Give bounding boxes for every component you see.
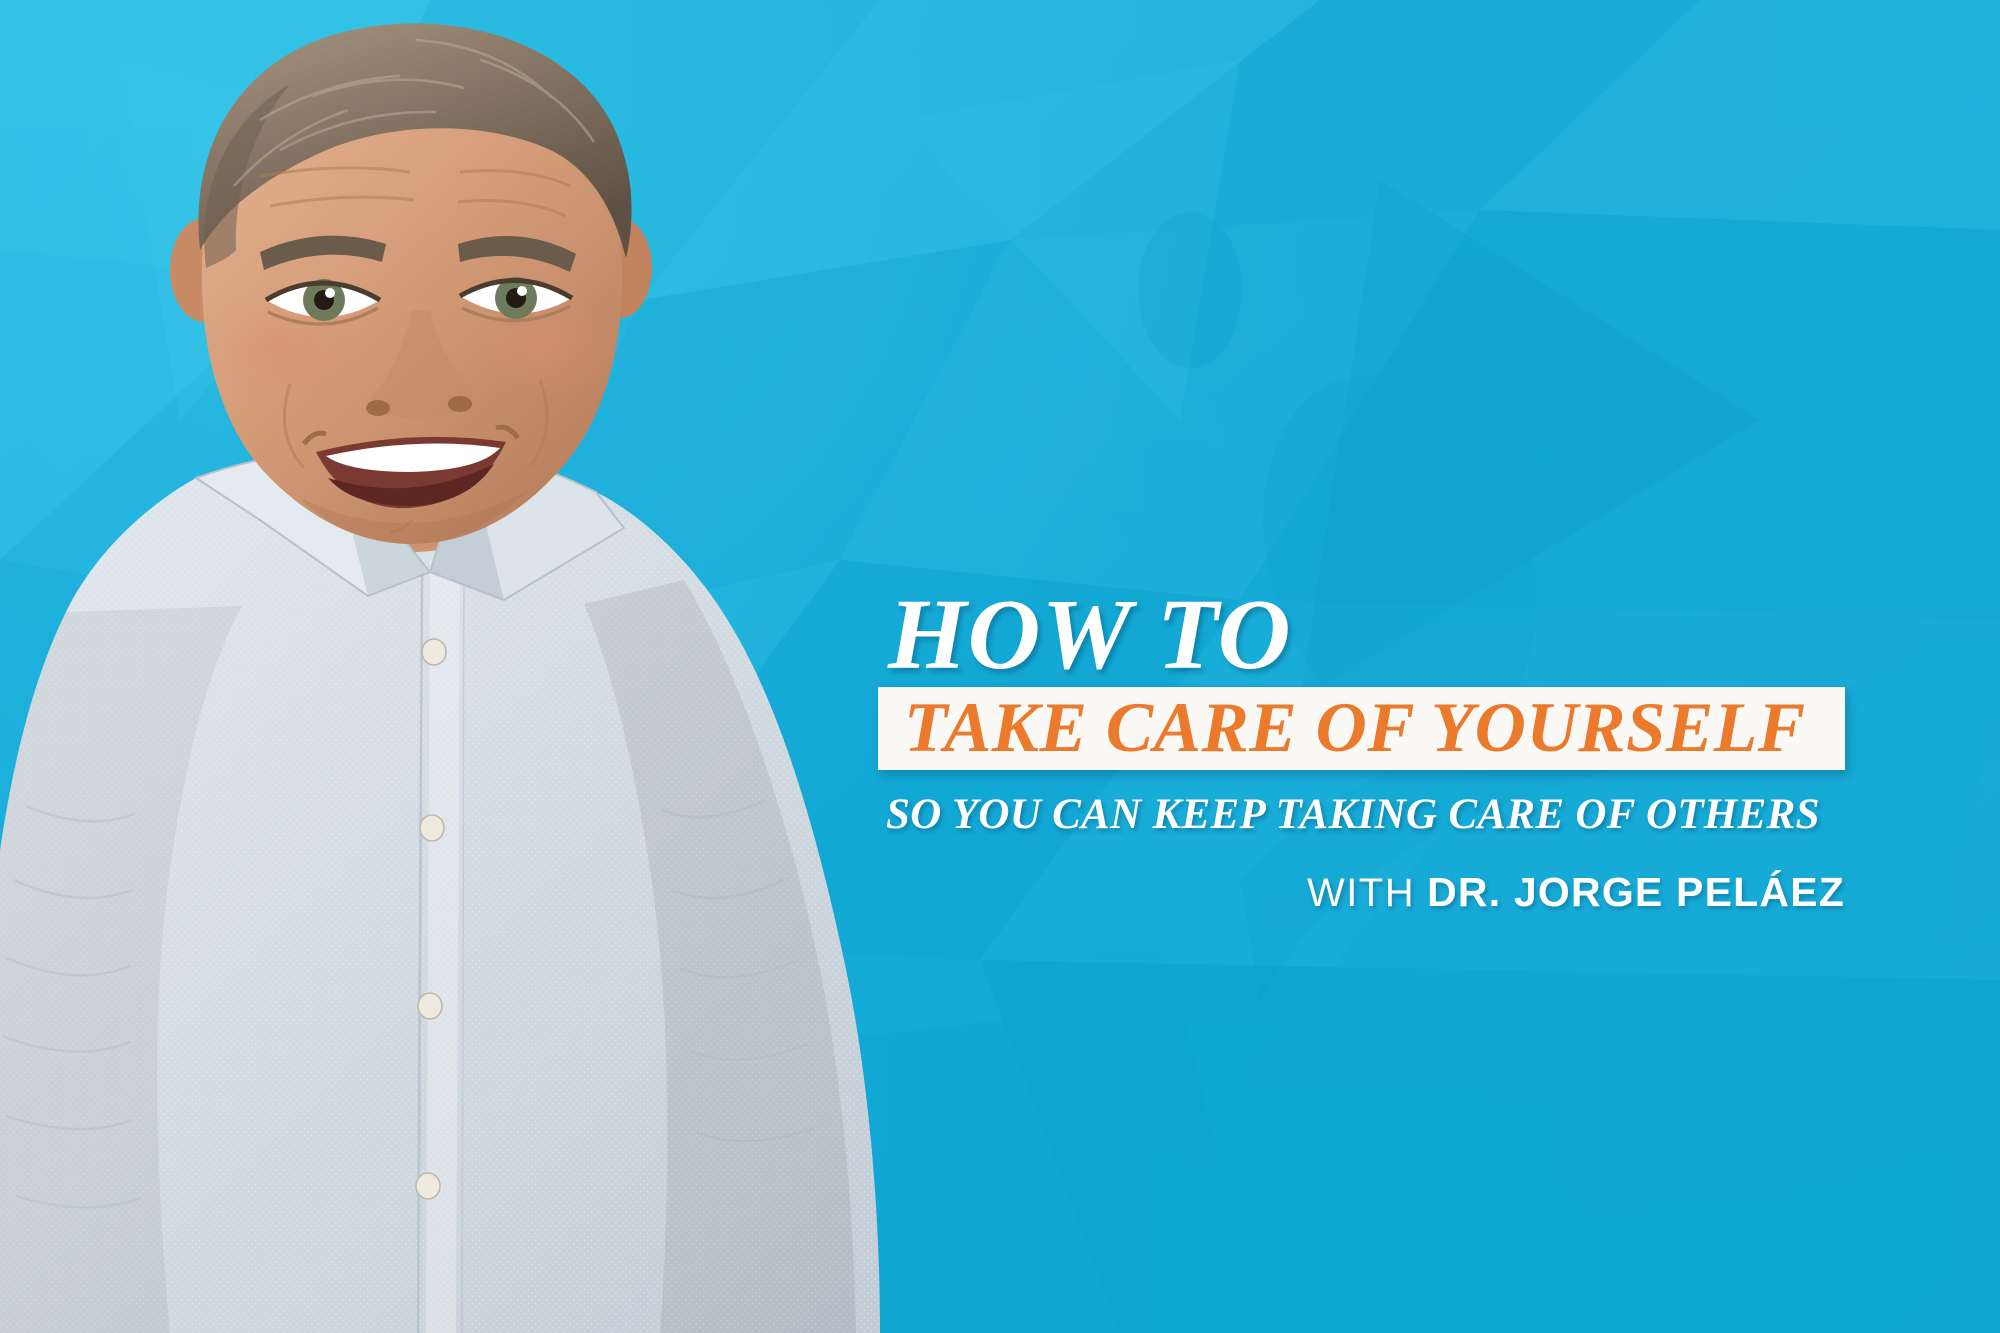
headline-line-1: HOW TO	[888, 588, 1848, 681]
headline-line-2: TAKE CARE OF YOURSELF	[878, 693, 1806, 764]
shirt	[0, 478, 880, 1333]
byline: WITHDR. JORGE PELÁEZ	[878, 869, 1845, 916]
byline-prefix: WITH	[1307, 871, 1415, 915]
headline-banner: TAKE CARE OF YOURSELF	[878, 687, 1845, 770]
headline-block: HOW TO TAKE CARE OF YOURSELF SO YOU CAN …	[878, 588, 1848, 916]
speaker-portrait-photo	[0, 0, 920, 1333]
promo-poster: HOW TO TAKE CARE OF YOURSELF SO YOU CAN …	[0, 0, 2000, 1333]
headline-subtitle: SO YOU CAN KEEP TAKING CARE OF OTHERS	[886, 793, 1848, 836]
byline-speaker-name: DR. JORGE PELÁEZ	[1427, 869, 1845, 915]
